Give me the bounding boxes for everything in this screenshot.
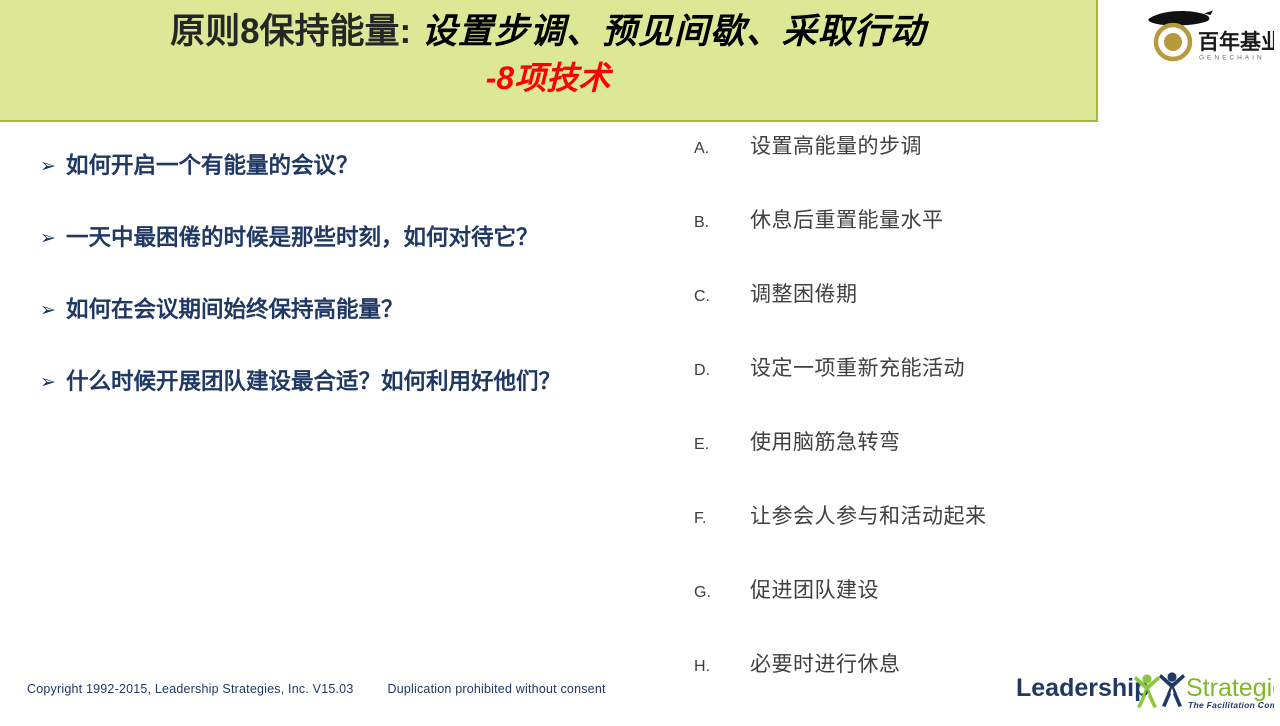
technique-letter: H. <box>694 654 750 680</box>
technique-letter: D. <box>694 358 750 384</box>
leadership-strategies-logo: Leadership Strategies The Facilitation C… <box>1016 668 1274 716</box>
technique-text: 促进团队建设 <box>750 578 879 604</box>
arrow-bullet-icon: ➢ <box>40 368 66 397</box>
brush-stroke-icon <box>1148 11 1209 26</box>
footer-copyright-text: Copyright 1992-2015, Leadership Strategi… <box>27 682 354 696</box>
genechain-logo: 百年基业 GENECHAIN <box>1142 4 1274 62</box>
ls-tagline: The Facilitation Company <box>1188 700 1274 710</box>
questions-list: ➢ 如何开启一个有能量的会议？ ➢ 一天中最困倦的时候是那些时刻，如何对待它？ … <box>40 152 680 440</box>
footer-duplication-text: Duplication prohibited without consent <box>388 682 606 696</box>
arrow-bullet-icon: ➢ <box>40 296 66 325</box>
question-text: 如何在会议期间始终保持高能量？ <box>66 296 404 324</box>
brush-tip-icon <box>1204 11 1213 16</box>
technique-text: 设定一项重新充能活动 <box>750 356 965 382</box>
technique-text: 调整困倦期 <box>750 282 858 308</box>
question-text: 一天中最困倦的时候是那些时刻，如何对待它？ <box>66 224 539 252</box>
footer-copyright: Copyright 1992-2015, Leadership Strategi… <box>27 682 606 696</box>
technique-letter: F. <box>694 506 750 532</box>
leadership-strategies-logo-svg: Leadership Strategies The Facilitation C… <box>1016 668 1274 716</box>
technique-letter: E. <box>694 432 750 458</box>
question-text: 什么时候开展团队建设最合适？如何利用好他们？ <box>66 368 561 396</box>
technique-item: E. 使用脑筋急转弯 <box>694 430 1234 504</box>
technique-letter: B. <box>694 210 750 236</box>
question-item: ➢ 如何在会议期间始终保持高能量？ <box>40 296 680 324</box>
technique-text: 设置高能量的步调 <box>750 134 922 160</box>
technique-item: G. 促进团队建设 <box>694 578 1234 652</box>
question-item: ➢ 如何开启一个有能量的会议？ <box>40 152 680 180</box>
genechain-name-cn: 百年基业 <box>1198 30 1274 54</box>
technique-item: C. 调整困倦期 <box>694 282 1234 356</box>
techniques-list: A. 设置高能量的步调 B. 休息后重置能量水平 C. 调整困倦期 D. 设定一… <box>694 134 1234 726</box>
genechain-logo-svg: 百年基业 GENECHAIN <box>1142 4 1274 62</box>
slide-title-line2: -8项技术 <box>486 56 610 100</box>
navy-figure-icon <box>1159 672 1185 707</box>
ls-word-strategies: Strategies <box>1186 674 1274 702</box>
arrow-bullet-icon: ➢ <box>40 152 66 181</box>
slide-title-principle: 原则8保持能量: <box>170 12 411 51</box>
technique-letter: C. <box>694 284 750 310</box>
ls-word-leadership: Leadership <box>1016 674 1149 702</box>
question-text: 如何开启一个有能量的会议？ <box>66 152 359 180</box>
technique-text: 必要时进行休息 <box>750 652 901 678</box>
slide-title-subtitle: 设置步调、预见间歇、采取行动 <box>411 12 926 51</box>
technique-letter: A. <box>694 136 750 162</box>
slide-title-line1: 原则8保持能量: 设置步调、预见间歇、采取行动 <box>170 6 926 58</box>
technique-text: 使用脑筋急转弯 <box>750 430 901 456</box>
technique-item: D. 设定一项重新充能活动 <box>694 356 1234 430</box>
question-item: ➢ 什么时候开展团队建设最合适？如何利用好他们？ <box>40 368 680 396</box>
technique-item: B. 休息后重置能量水平 <box>694 208 1234 282</box>
technique-item: A. 设置高能量的步调 <box>694 134 1234 208</box>
ring-inner-icon <box>1164 33 1182 51</box>
technique-item: F. 让参会人参与和活动起来 <box>694 504 1234 578</box>
title-banner: 原则8保持能量: 设置步调、预见间歇、采取行动 -8项技术 <box>0 0 1098 122</box>
technique-text: 让参会人参与和活动起来 <box>750 504 987 530</box>
question-item: ➢ 一天中最困倦的时候是那些时刻，如何对待它？ <box>40 224 680 252</box>
technique-letter: G. <box>694 580 750 606</box>
arrow-bullet-icon: ➢ <box>40 224 66 253</box>
technique-text: 休息后重置能量水平 <box>750 208 944 234</box>
genechain-name-en: GENECHAIN <box>1199 55 1265 62</box>
